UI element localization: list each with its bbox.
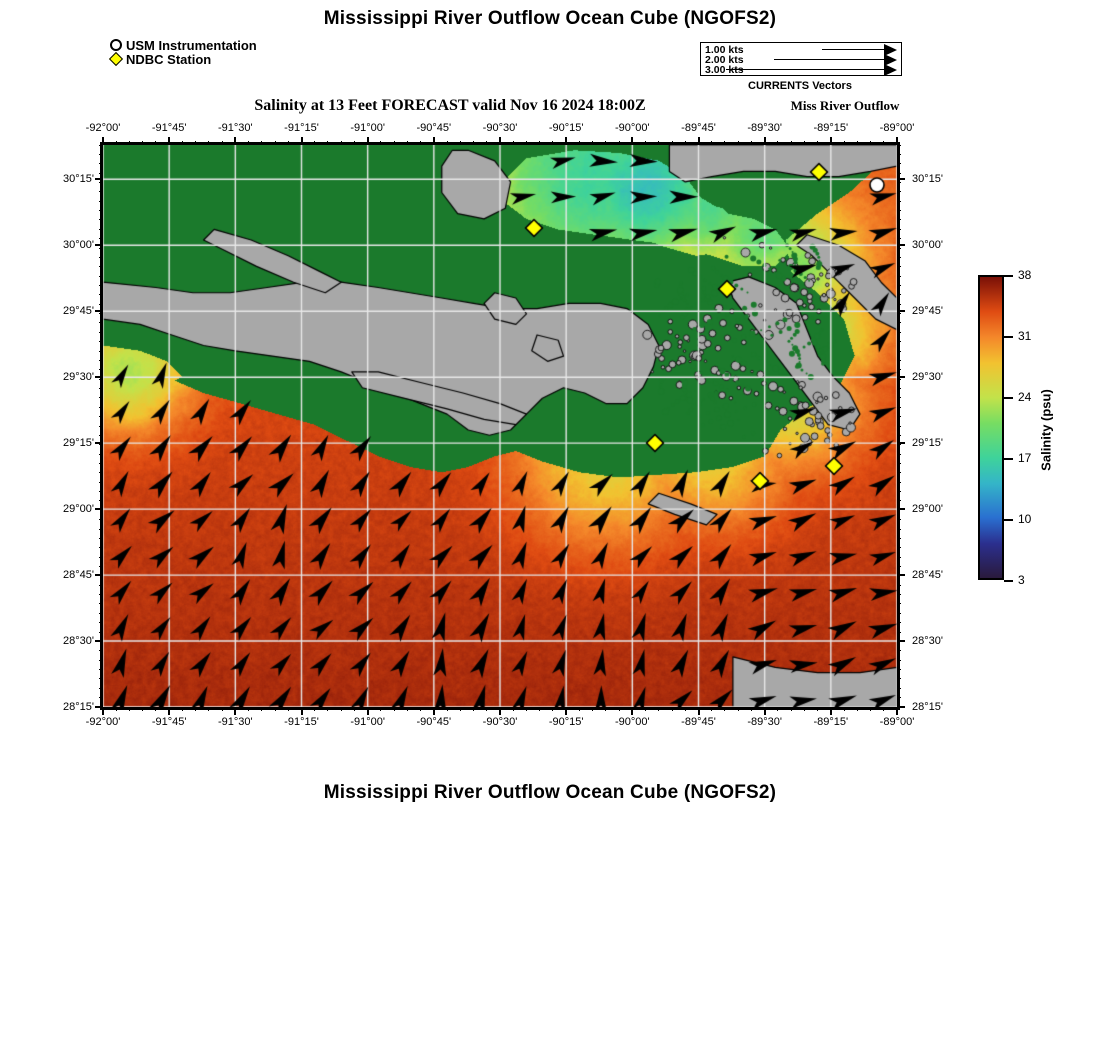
colorbar-tick-label: 31	[1018, 329, 1031, 343]
axis-tick-label: -89°00'	[880, 716, 915, 728]
axis-tick-label: -89°30'	[747, 122, 782, 134]
axis-tick-label: -89°15'	[814, 716, 849, 728]
axis-tick-label: -91°15'	[284, 122, 319, 134]
colorbar-title: Salinity (psu)	[1039, 389, 1054, 471]
axis-tick-label: 29°15'	[38, 437, 94, 449]
axis-tick-label: 30°00'	[38, 239, 94, 251]
axis-tick-label: 30°15'	[38, 173, 94, 185]
axis-tick-label: 28°45'	[912, 569, 968, 581]
axis-tick-label: -90°00'	[615, 716, 650, 728]
axis-tick-label: -91°15'	[284, 716, 319, 728]
axis-tick-label: 29°30'	[912, 371, 968, 383]
colorbar-tick-label: 10	[1018, 512, 1031, 526]
axis-tick-label: -91°45'	[152, 716, 187, 728]
axis-tick-label: 29°15'	[912, 437, 968, 449]
axis-tick-label: -92°00'	[86, 716, 121, 728]
colorbar-tick-label: 24	[1018, 390, 1031, 404]
axis-tick-label: -89°00'	[880, 122, 915, 134]
axis-tick-label: 28°15'	[38, 701, 94, 713]
colorbar	[978, 275, 1004, 580]
axis-tick-label: 29°00'	[912, 503, 968, 515]
colorbar-tick-label: 3	[1018, 573, 1025, 587]
axis-tick-label: -89°15'	[814, 122, 849, 134]
axis-tick-label: -90°30'	[483, 716, 518, 728]
axis-tick-label: -90°15'	[549, 716, 584, 728]
axis-tick-label: -89°30'	[747, 716, 782, 728]
colorbar-tick	[1004, 275, 1013, 277]
axis-tick-label: -91°30'	[218, 122, 253, 134]
colorbar-gradient	[980, 277, 1002, 578]
axis-tick-label: 29°45'	[38, 305, 94, 317]
axis-tick-label: -89°45'	[681, 122, 716, 134]
axis-tick-label: 29°45'	[912, 305, 968, 317]
axis-tick-label: 28°30'	[912, 635, 968, 647]
axis-tick-label: -90°15'	[549, 122, 584, 134]
axis-tick-label: -91°00'	[350, 122, 385, 134]
axis-tick-label: 28°45'	[38, 569, 94, 581]
colorbar-tick	[1004, 580, 1013, 582]
colorbar-tick	[1004, 397, 1013, 399]
axis-tick-label: -90°45'	[417, 716, 452, 728]
axis-tick-label: -91°30'	[218, 716, 253, 728]
axis-tick-label: -90°45'	[417, 122, 452, 134]
axis-tick-label: -90°00'	[615, 122, 650, 134]
axis-tick-label: 28°15'	[912, 701, 968, 713]
axis-tick-label: 30°15'	[912, 173, 968, 185]
axis-tick-label: 29°00'	[38, 503, 94, 515]
axis-tick-label: -91°45'	[152, 122, 187, 134]
axis-tick-label: 28°30'	[38, 635, 94, 647]
axis-tick-label: 29°30'	[38, 371, 94, 383]
axis-tick-label: -90°30'	[483, 122, 518, 134]
colorbar-tick	[1004, 519, 1013, 521]
colorbar-tick-label: 38	[1018, 268, 1031, 282]
axis-tick-label: -91°00'	[350, 716, 385, 728]
axis-tick-label: 30°00'	[912, 239, 968, 251]
axis-tick-label: -89°45'	[681, 716, 716, 728]
colorbar-tick-label: 17	[1018, 451, 1031, 465]
axis-labels: -92°00'-92°00'-91°45'-91°45'-91°30'-91°3…	[0, 0, 1100, 1050]
colorbar-tick	[1004, 458, 1013, 460]
colorbar-tick	[1004, 336, 1013, 338]
axis-tick-label: -92°00'	[86, 122, 121, 134]
